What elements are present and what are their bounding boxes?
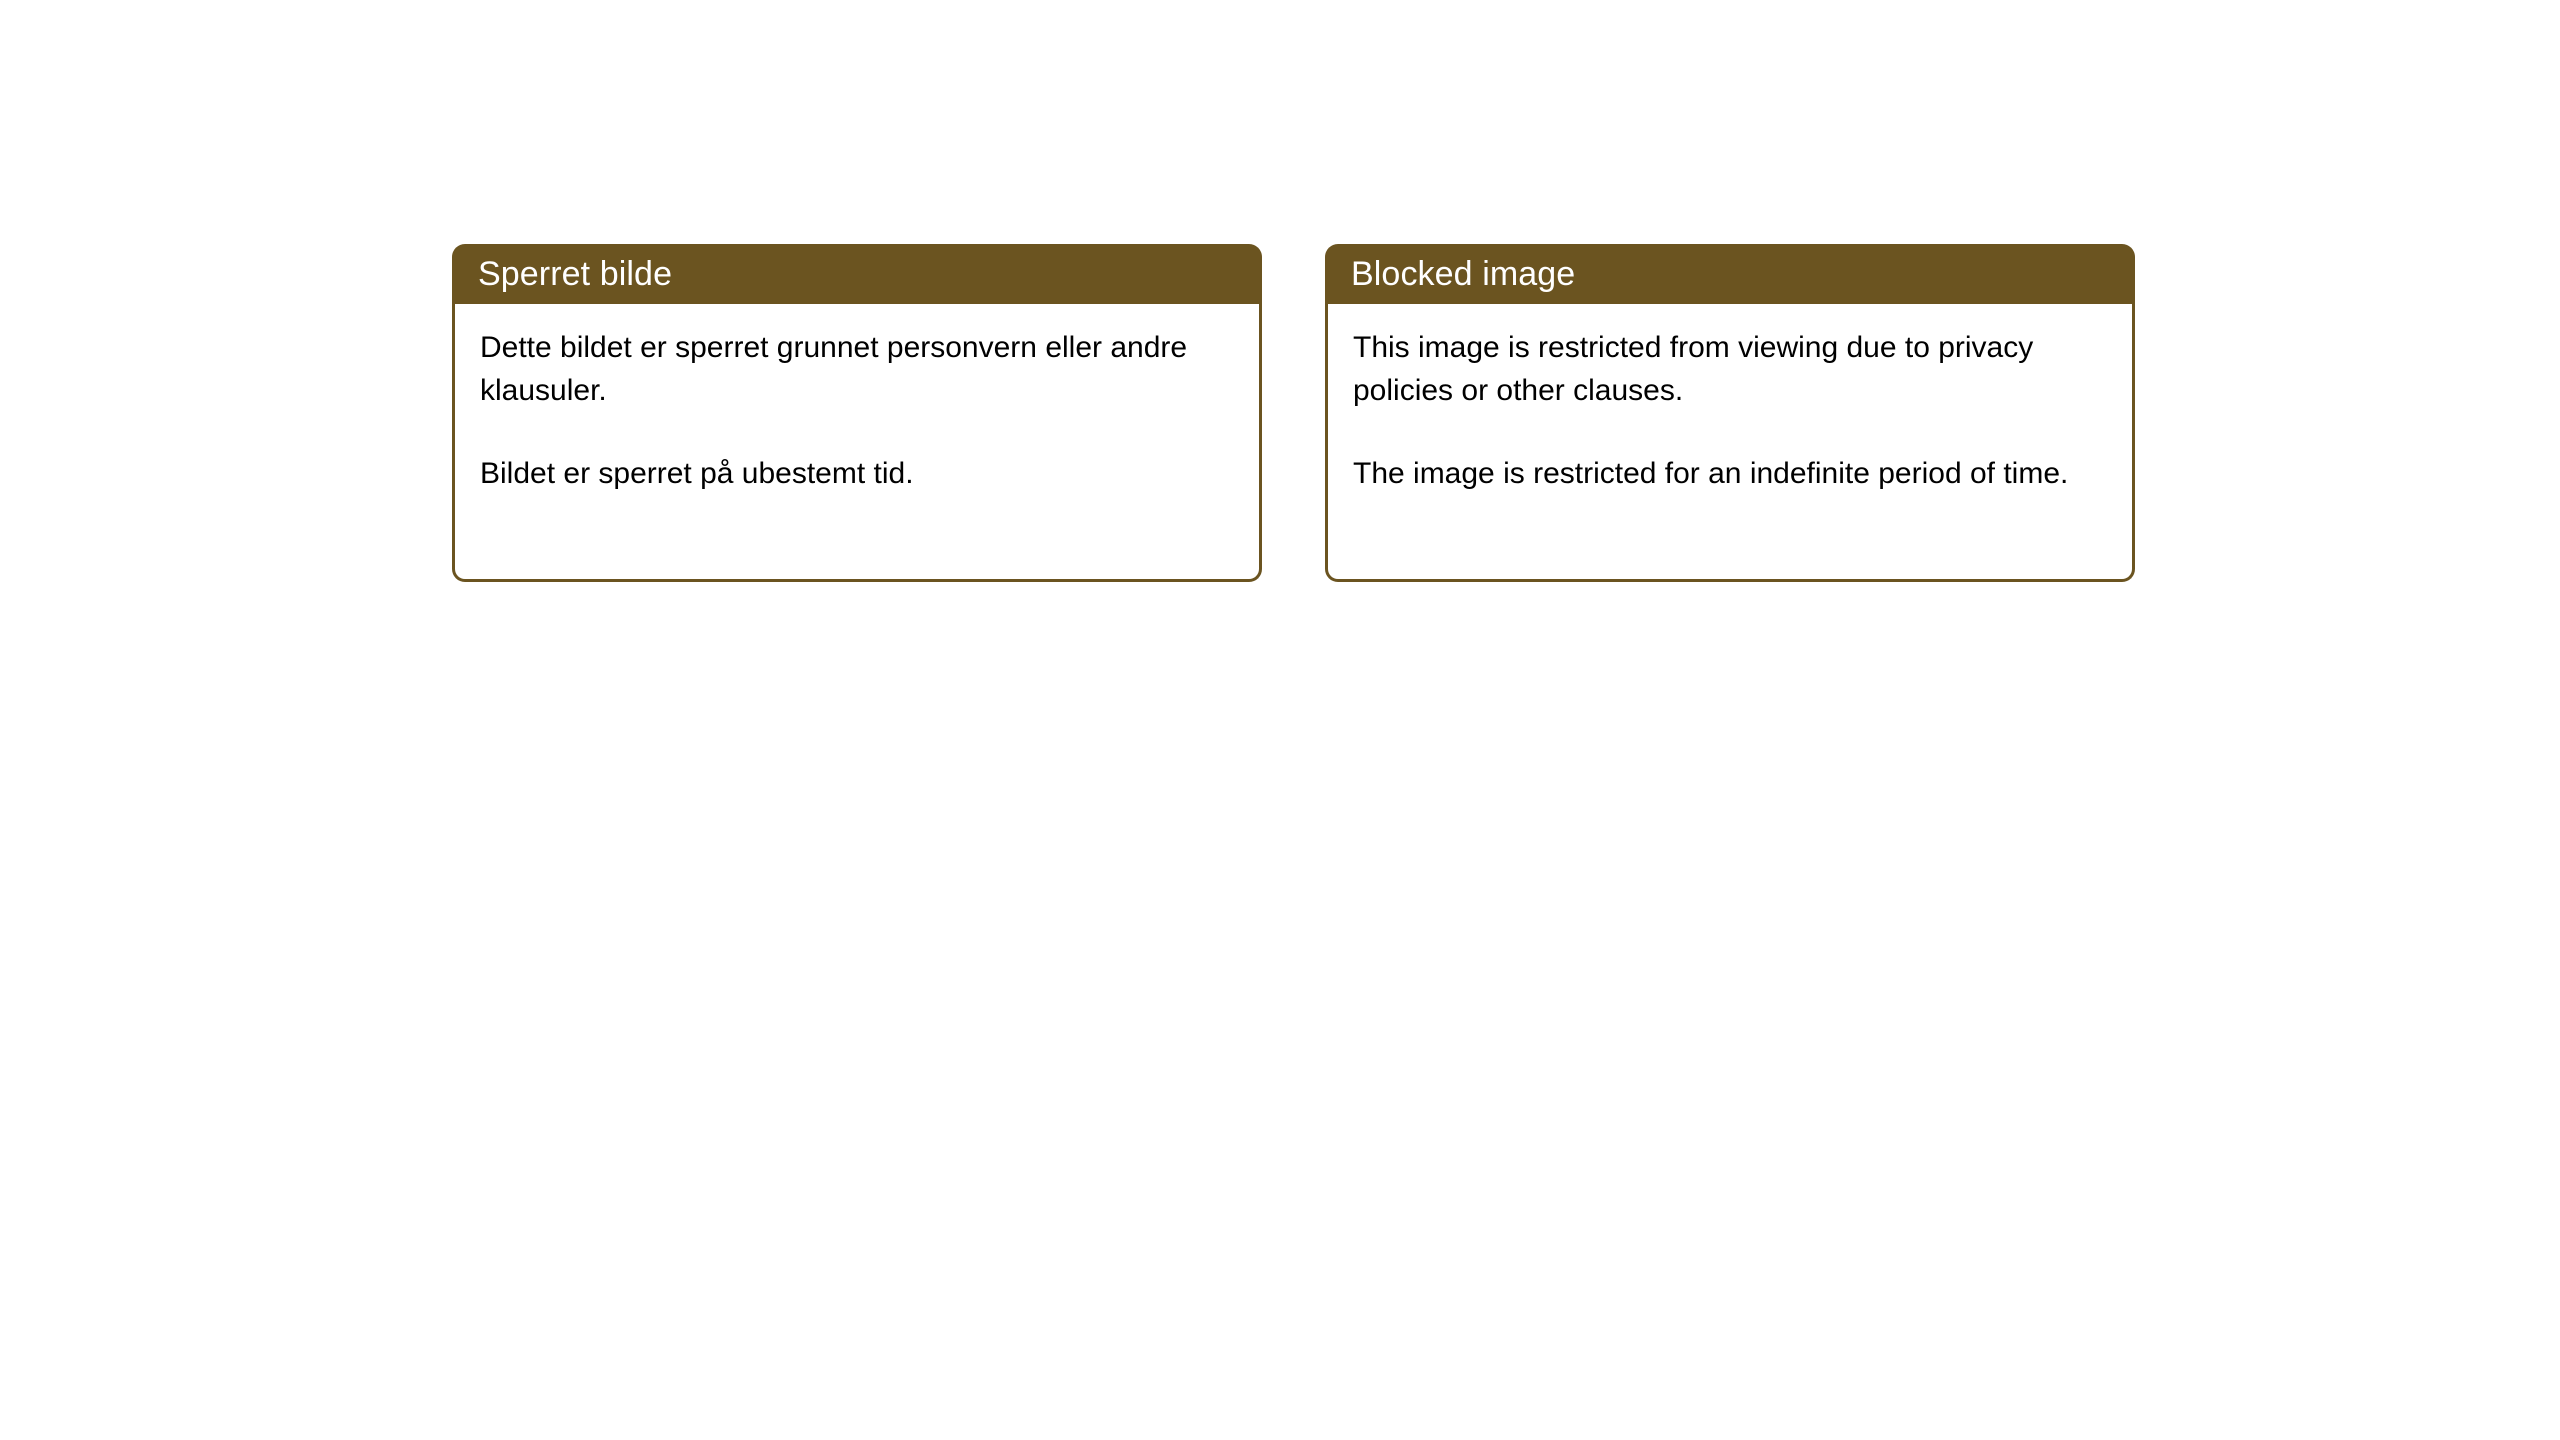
blocked-image-card-norwegian: Sperret bilde Dette bildet er sperret gr… (452, 244, 1262, 582)
card-header-norwegian: Sperret bilde (452, 244, 1262, 304)
card-body-norwegian: Dette bildet er sperret grunnet personve… (452, 304, 1262, 582)
page-canvas: Sperret bilde Dette bildet er sperret gr… (0, 0, 2560, 1440)
card-paragraph-english-2: The image is restricted for an indefinit… (1353, 452, 2108, 495)
card-title-norwegian: Sperret bilde (478, 254, 672, 294)
card-body-english: This image is restricted from viewing du… (1325, 304, 2135, 582)
card-title-english: Blocked image (1351, 254, 1575, 294)
card-paragraph-norwegian-2: Bildet er sperret på ubestemt tid. (480, 452, 1235, 495)
card-paragraph-english-1: This image is restricted from viewing du… (1353, 326, 2108, 412)
blocked-image-notices: Sperret bilde Dette bildet er sperret gr… (452, 244, 2135, 582)
card-header-english: Blocked image (1325, 244, 2135, 304)
card-paragraph-norwegian-1: Dette bildet er sperret grunnet personve… (480, 326, 1235, 412)
blocked-image-card-english: Blocked image This image is restricted f… (1325, 244, 2135, 582)
